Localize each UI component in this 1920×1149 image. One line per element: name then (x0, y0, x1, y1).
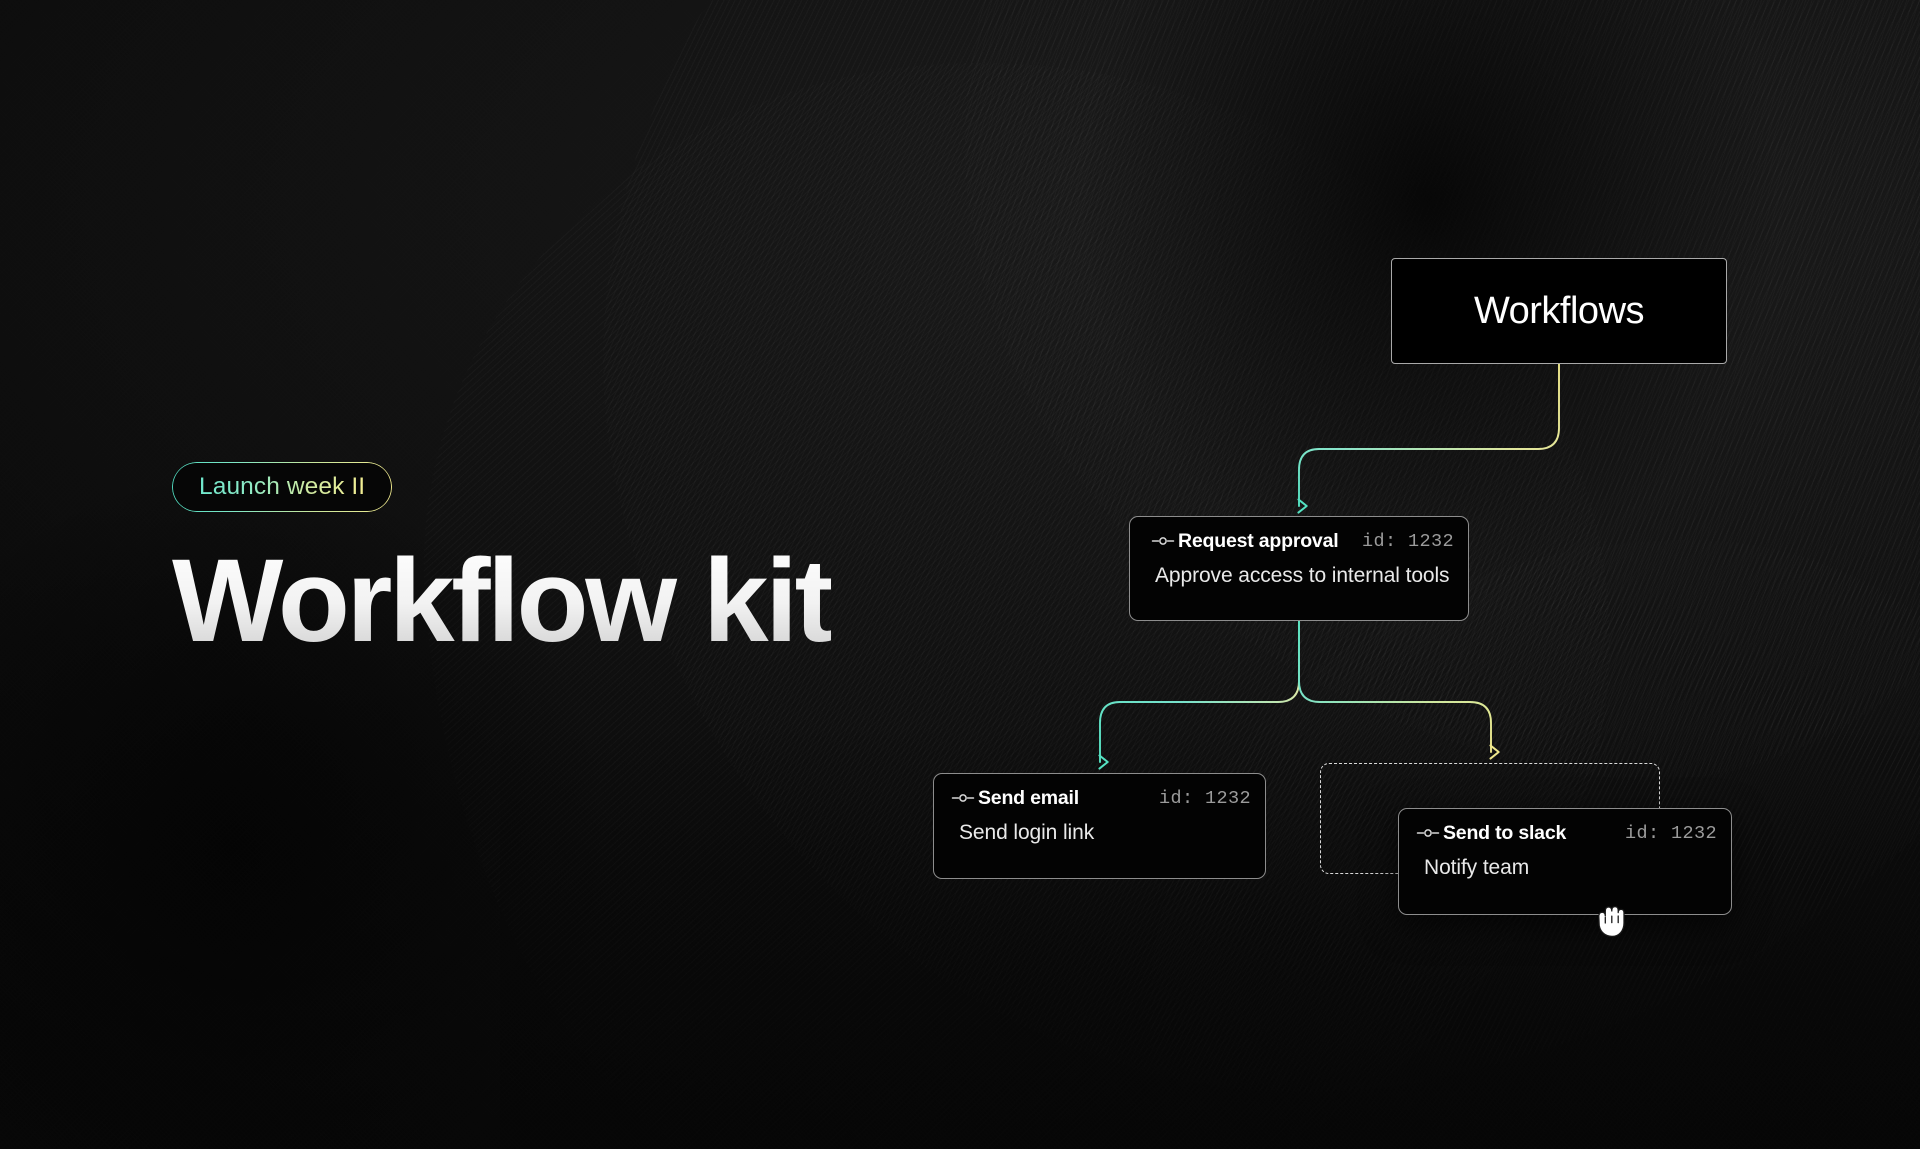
workflow-node-title: Request approval (1178, 530, 1338, 553)
workflow-node-description: Send login link (948, 822, 1251, 845)
workflow-node-send-to-slack[interactable]: Send to slack id: 1232 Notify team (1398, 808, 1732, 915)
workflow-root-node-label: Workflows (1474, 292, 1644, 330)
workflow-root-node[interactable]: Workflows (1391, 258, 1727, 364)
workflow-node-title: Send to slack (1443, 822, 1566, 845)
launch-week-badge[interactable]: Launch week II (172, 462, 392, 512)
node-connector-icon (1148, 535, 1178, 547)
hero-canvas: Launch week II Workflow kit (0, 0, 1920, 1149)
node-connector-icon (948, 792, 978, 804)
workflow-node-header: Send to slack id: 1232 (1413, 809, 1717, 857)
edge-approval-to-slack (1299, 621, 1491, 752)
workflow-node-title: Send email (978, 787, 1079, 810)
edge-approval-to-email (1100, 621, 1299, 762)
workflow-node-header: Request approval id: 1232 (1144, 517, 1454, 565)
workflow-node-id: id: 1232 (1141, 788, 1251, 809)
node-connector-icon (1413, 827, 1443, 839)
workflow-node-id: id: 1232 (1607, 823, 1717, 844)
page-title: Workflow kit (172, 542, 831, 660)
workflow-node-description: Approve access to internal tools (1144, 565, 1454, 588)
hero-text-block: Launch week II Workflow kit (172, 462, 831, 660)
workflow-node-send-email[interactable]: Send email id: 1232 Send login link (933, 773, 1266, 879)
workflow-node-description: Notify team (1413, 857, 1717, 880)
launch-week-badge-label: Launch week II (199, 475, 365, 500)
workflow-node-id: id: 1232 (1344, 531, 1454, 552)
edge-root-to-approval (1299, 364, 1559, 506)
workflow-node-request-approval[interactable]: Request approval id: 1232 Approve access… (1129, 516, 1469, 621)
workflow-node-header: Send email id: 1232 (948, 774, 1251, 822)
grabbing-hand-cursor (1594, 898, 1628, 938)
